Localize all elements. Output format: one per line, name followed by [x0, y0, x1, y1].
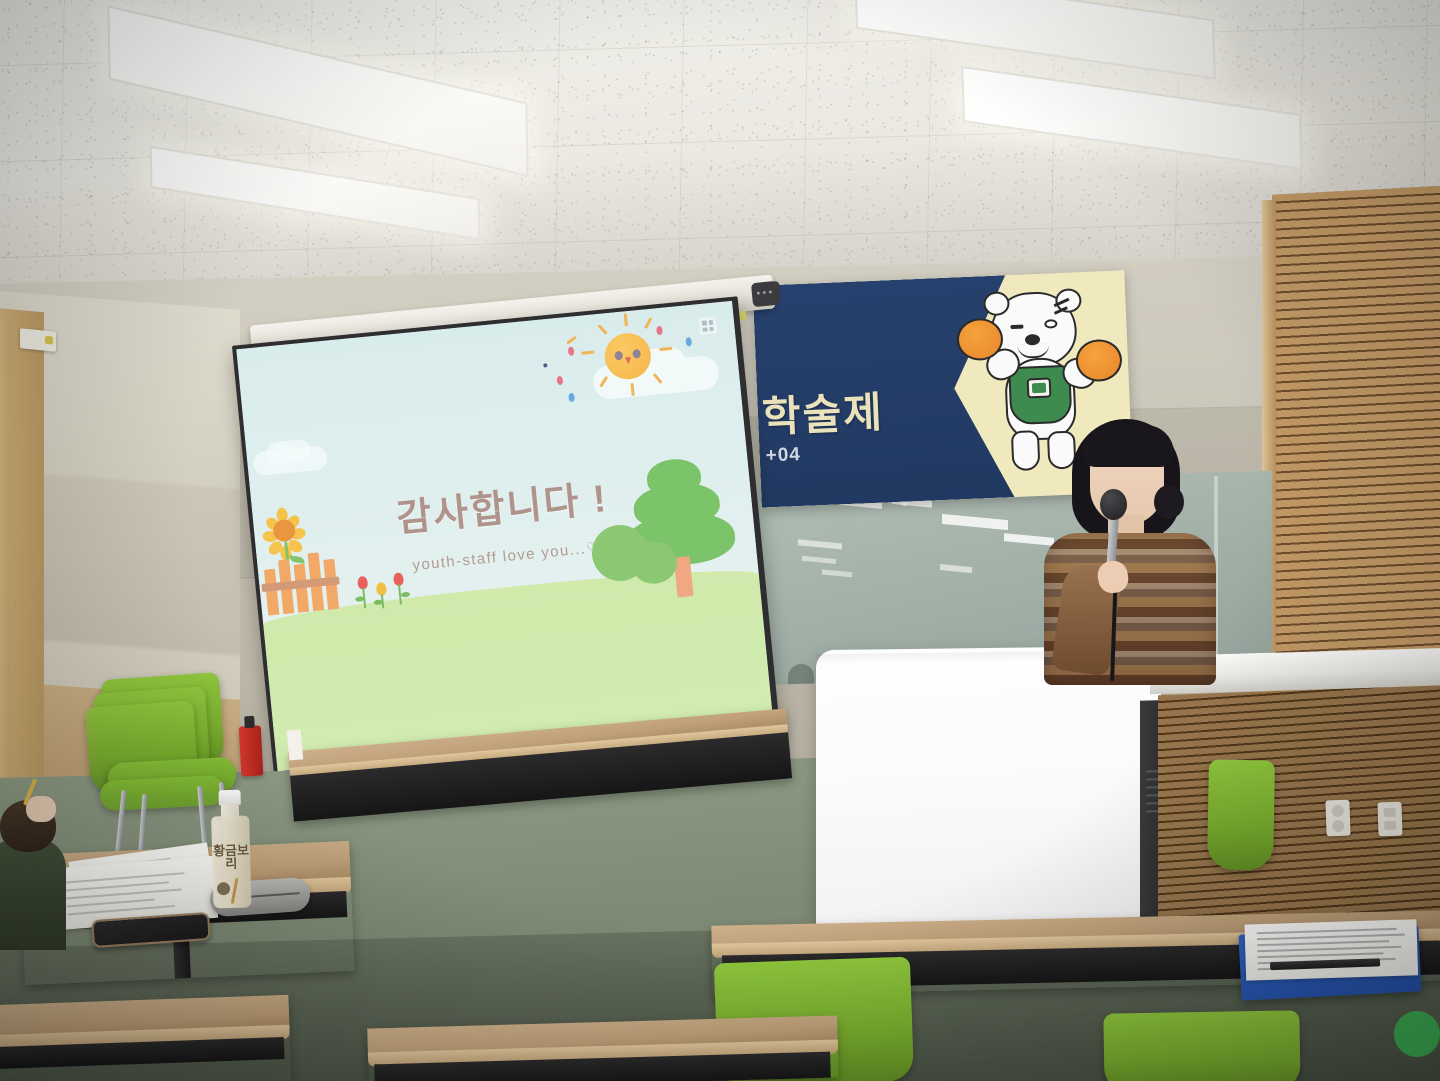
handheld-microphone	[1100, 489, 1127, 520]
bottle-label: 황금보리	[212, 844, 251, 871]
grid-four-squares-icon	[698, 317, 717, 336]
banner-title: 학술제	[761, 375, 963, 444]
screen-housing-end-cap	[751, 281, 779, 307]
bangs	[1082, 425, 1174, 467]
beverage-bottle: 황금보리	[210, 790, 251, 909]
green-object	[1394, 1011, 1440, 1057]
hair-bun	[1154, 485, 1184, 519]
power-outlet[interactable]	[1325, 800, 1350, 837]
fire-extinguisher	[239, 725, 264, 776]
foreground-audience-member	[0, 790, 74, 950]
projection-screen: 감사합니다 ! youth-staff love you...♡	[232, 296, 780, 779]
white-lectern	[816, 646, 1161, 926]
wall-sticker	[287, 729, 304, 760]
door-panel[interactable]	[0, 317, 10, 839]
pompom-right-icon	[1075, 339, 1123, 383]
network-outlet[interactable]	[1377, 802, 1402, 837]
banner-subtitle: +04	[765, 444, 801, 467]
presentation-room-photo: 학술제 +04	[0, 0, 1440, 1081]
wall-sensor-device	[20, 328, 56, 352]
blue-clipboard-with-document	[1238, 925, 1421, 1000]
green-chair-behind-podium[interactable]	[1207, 759, 1275, 870]
slide-content: 감사합니다 ! youth-staff love you...♡	[236, 301, 773, 772]
student-desk-bottom-left	[0, 995, 291, 1081]
presenter-at-podium	[1020, 415, 1220, 685]
green-chair-foreground[interactable]	[1103, 1010, 1300, 1081]
